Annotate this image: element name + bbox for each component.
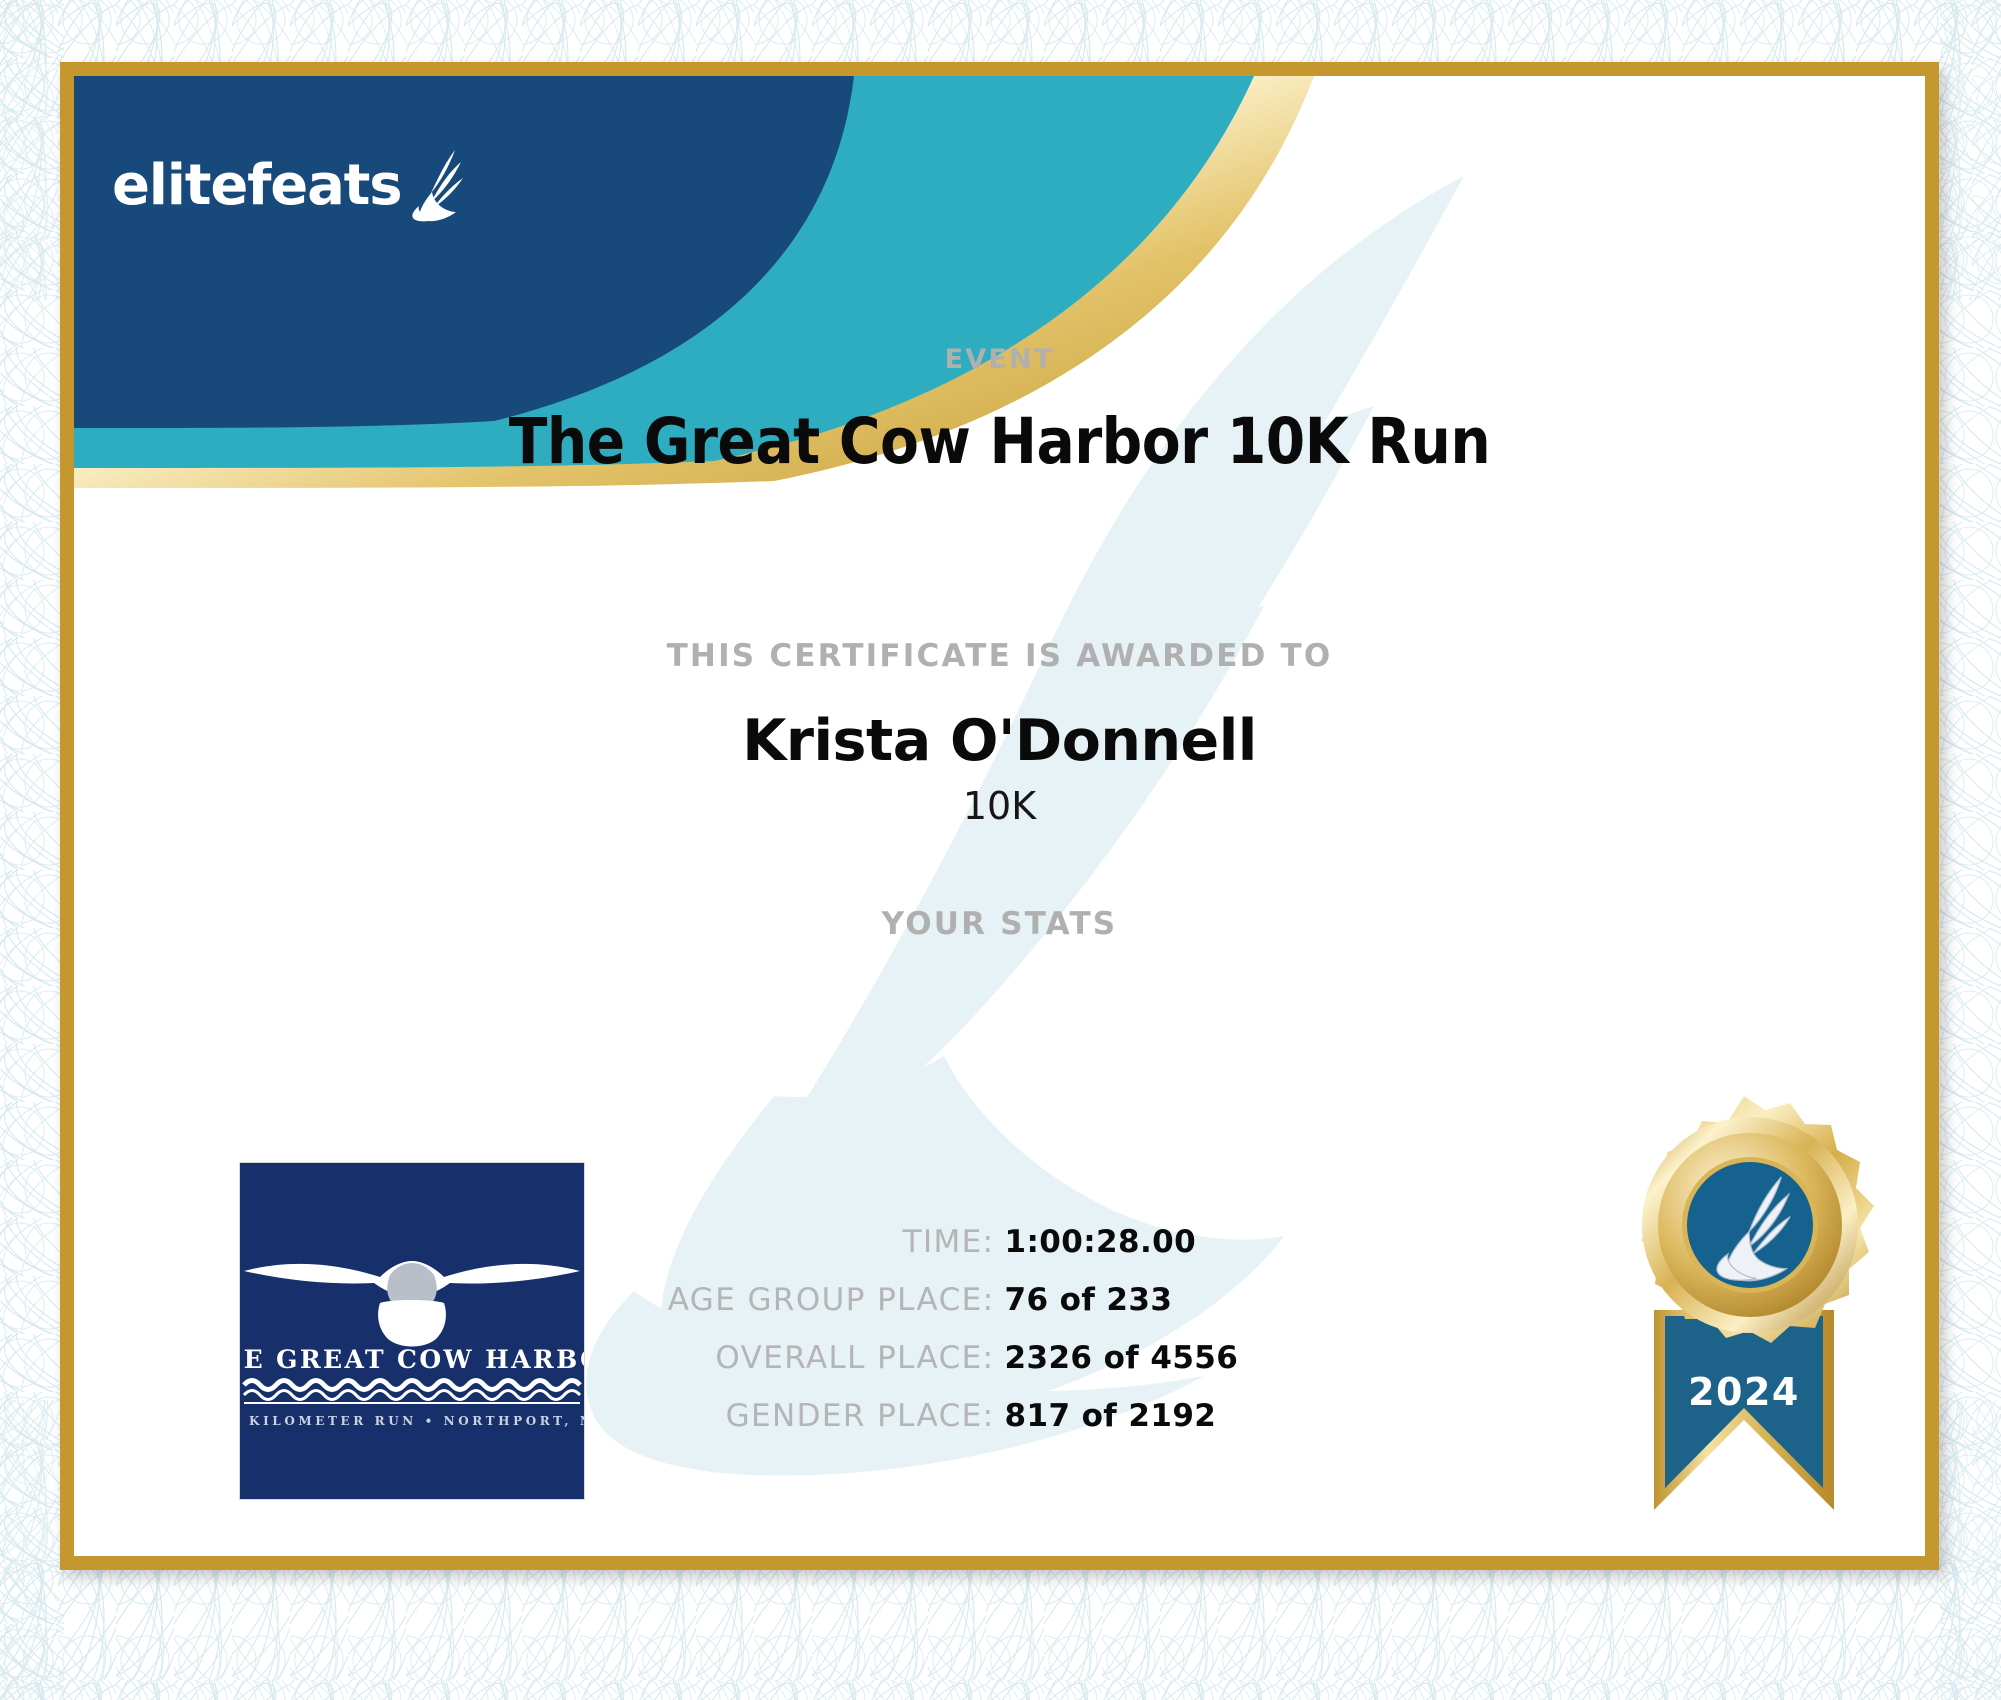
finisher-medal: 2024 (1579, 1090, 1909, 1556)
certificate-gold-frame: elitefeats EVENT The Great Cow Harbor 10… (60, 62, 1939, 1570)
awarded-block: THIS CERTIFICATE IS AWARDED TO Krista O'… (74, 638, 1925, 828)
stat-value: 1:00:28.00 (1005, 1224, 1425, 1260)
stat-label: AGE GROUP PLACE: (575, 1282, 995, 1318)
awarded-to-label: THIS CERTIFICATE IS AWARDED TO (74, 638, 1925, 674)
race-logo-subtitle: 10 KILOMETER RUN • NORTHPORT, NY (240, 1414, 584, 1428)
race-event-logo: THE GREAT COW HARBOR 10 KILOMETER RUN • … (240, 1163, 584, 1499)
stat-value: 76 of 233 (1005, 1282, 1425, 1318)
race-logo-title: THE GREAT COW HARBOR (240, 1345, 584, 1374)
medal-year: 2024 (1688, 1370, 1800, 1414)
stat-value: 2326 of 4556 (1005, 1340, 1425, 1376)
stat-value: 817 of 2192 (1005, 1398, 1425, 1434)
stat-label: OVERALL PLACE: (575, 1340, 995, 1376)
certificate-page: elitefeats EVENT The Great Cow Harbor 10… (0, 0, 2001, 1700)
medal-badge (1641, 1096, 1874, 1343)
stat-label: TIME: (575, 1224, 995, 1260)
recipient-name: Krista O'Donnell (74, 708, 1925, 774)
certificate-body: elitefeats EVENT The Great Cow Harbor 10… (74, 76, 1925, 1556)
medal-ribbon: 2024 (1654, 1310, 1834, 1510)
event-title: The Great Cow Harbor 10K Run (74, 405, 1925, 478)
certificate-headings: EVENT The Great Cow Harbor 10K Run THIS … (74, 344, 1925, 942)
event-label: EVENT (74, 344, 1925, 375)
stat-label: GENDER PLACE: (575, 1398, 995, 1434)
your-stats-label: YOUR STATS (74, 906, 1925, 942)
race-distance: 10K (74, 784, 1925, 828)
